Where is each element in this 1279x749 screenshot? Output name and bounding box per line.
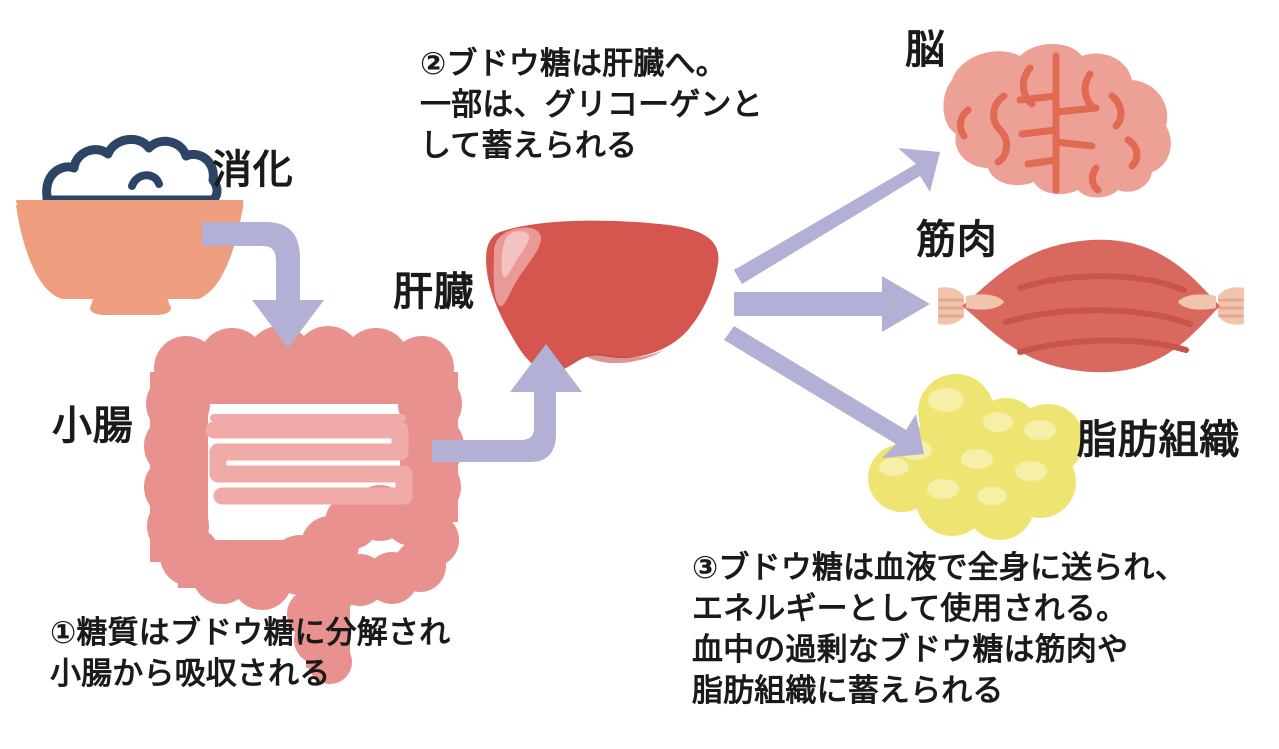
step-1-caption: ①糖質はブドウ糖に分解され 小腸から吸収される bbox=[50, 613, 450, 695]
step-2-caption: ②ブドウ糖は肝臓へ。 一部は、グリコーゲンと して蓄えられる bbox=[420, 44, 763, 167]
arrow-liver-to-fat bbox=[724, 326, 924, 458]
step-3-caption: ③ブドウ糖は血液で全身に送られ、 エネルギーとして使用される。 血中の過剰なブド… bbox=[692, 548, 1186, 712]
arrow-bowl-to-intestine bbox=[202, 222, 324, 348]
arrow-liver-to-brain bbox=[734, 148, 940, 284]
arrow-intestine-to-liver bbox=[432, 344, 582, 462]
label-brain: 脳 bbox=[905, 30, 946, 70]
diagram-canvas: 消化 小腸 肝臓 脳 筋肉 脂肪組織 ①糖質はブドウ糖に分解され 小腸から吸収さ… bbox=[0, 0, 1279, 749]
label-small-intestine: 小腸 bbox=[52, 406, 134, 446]
label-muscle: 筋肉 bbox=[916, 220, 998, 260]
arrow-liver-to-muscle bbox=[734, 276, 930, 332]
label-digestion: 消化 bbox=[212, 150, 294, 190]
label-fat-tissue: 脂肪組織 bbox=[1077, 420, 1240, 460]
label-liver: 肝臓 bbox=[393, 272, 475, 312]
